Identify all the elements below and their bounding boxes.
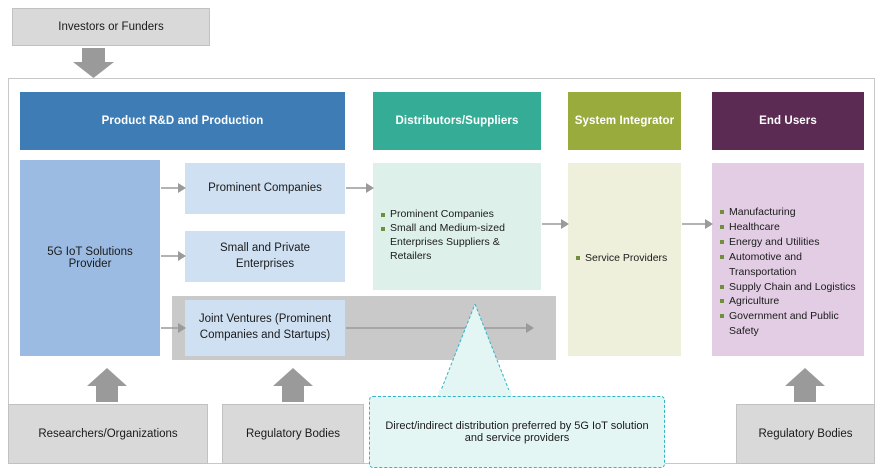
list-item: Government and Public Safety — [720, 309, 858, 339]
callout-pointer — [438, 304, 512, 398]
rnd-box-small-private-enterprises: Small and Private Enterprises — [185, 231, 345, 282]
end-users-list: Manufacturing Healthcare Energy and Util… — [720, 205, 858, 339]
rnd-box-joint-ventures-label: Joint Ventures (Prominent Companies and … — [191, 312, 339, 343]
arrow-investors-down — [73, 48, 114, 78]
solutions-provider-label: 5G IoT Solutions Provider — [26, 246, 154, 270]
list-item: Supply Chain and Logistics — [720, 280, 858, 295]
header-product-rnd: Product R&D and Production — [20, 92, 345, 150]
rnd-box-prominent-companies: Prominent Companies — [185, 163, 345, 214]
callout-label: Direct/indirect distribution preferred b… — [382, 420, 652, 444]
diagram-canvas: Investors or Funders Product R&D and Pro… — [0, 0, 883, 472]
list-item: Service Providers — [576, 251, 675, 266]
system-integrator-body: Service Providers — [568, 163, 681, 356]
callout-box: Direct/indirect distribution preferred b… — [369, 396, 665, 468]
bottom-box-researchers-label: Researchers/Organizations — [38, 428, 177, 440]
bottom-box-regulatory-right: Regulatory Bodies — [736, 404, 875, 464]
system-integrator-list: Service Providers — [576, 251, 675, 266]
rnd-box-prominent-companies-label: Prominent Companies — [208, 181, 322, 197]
header-product-rnd-label: Product R&D and Production — [102, 115, 264, 127]
bottom-box-researchers: Researchers/Organizations — [8, 404, 208, 464]
distributors-list: Prominent Companies Small and Medium-siz… — [381, 208, 533, 263]
list-item: Prominent Companies — [381, 208, 533, 222]
header-distributors: Distributors/Suppliers — [373, 92, 541, 150]
header-end-users: End Users — [712, 92, 864, 150]
header-system-integrator-label: System Integrator — [575, 115, 674, 127]
distributors-body: Prominent Companies Small and Medium-siz… — [373, 163, 541, 290]
investors-label: Investors or Funders — [58, 21, 163, 33]
list-item: Automotive and Transportation — [720, 250, 858, 280]
rnd-box-small-private-enterprises-label: Small and Private Enterprises — [191, 241, 339, 272]
solutions-provider-box: 5G IoT Solutions Provider — [20, 160, 160, 356]
investors-box: Investors or Funders — [12, 8, 210, 46]
list-item: Small and Medium-sized Enterprises Suppl… — [381, 222, 533, 264]
rnd-box-joint-ventures: Joint Ventures (Prominent Companies and … — [185, 300, 345, 356]
bottom-box-regulatory-right-label: Regulatory Bodies — [759, 428, 853, 440]
list-item: Manufacturing — [720, 205, 858, 220]
list-item: Agriculture — [720, 294, 858, 309]
header-system-integrator: System Integrator — [568, 92, 681, 150]
header-end-users-label: End Users — [759, 115, 817, 127]
bottom-box-regulatory-left: Regulatory Bodies — [222, 404, 364, 464]
end-users-body: Manufacturing Healthcare Energy and Util… — [712, 163, 864, 356]
bottom-box-regulatory-left-label: Regulatory Bodies — [246, 428, 340, 440]
list-item: Healthcare — [720, 220, 858, 235]
list-item: Energy and Utilities — [720, 235, 858, 250]
header-distributors-label: Distributors/Suppliers — [396, 115, 519, 127]
